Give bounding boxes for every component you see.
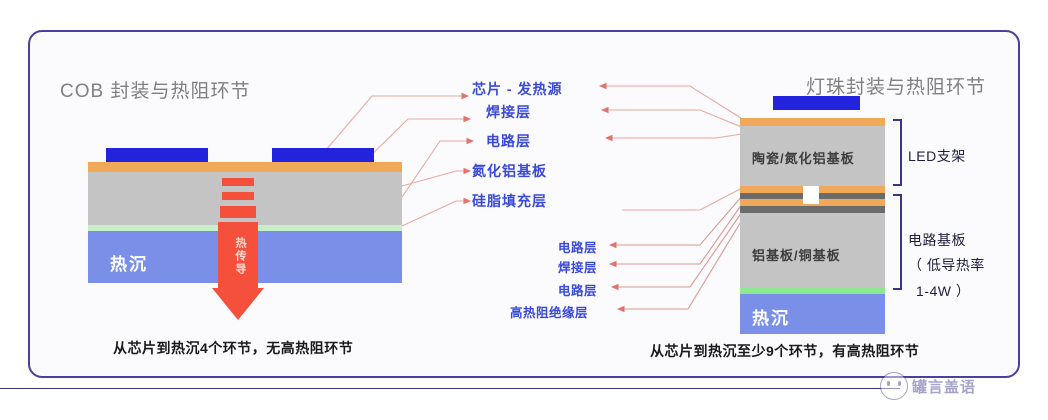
heat-dash-2 [222,192,254,200]
right-panel-title: 灯珠封装与热阻环节 [806,72,986,99]
watermark-divider [0,388,900,389]
right-heat-sink-label: 热沉 [752,304,790,329]
bracket-label-wattage: 1-4W ） [916,281,970,301]
right-side-label-3: 高热阻绝缘层 [510,302,588,321]
right-side-label-0: 电路层 [558,237,597,256]
center-label-3: 氮化铝基板 [472,161,547,181]
heat-dash-1 [222,178,254,186]
center-label-4: 硅脂填充层 [472,191,547,211]
bracket-label-circuit-board: 电路基板 [908,230,966,250]
left-panel-title: COB 封装与热阻环节 [60,76,250,103]
bracket-label-led-support: LED支架 [908,146,966,166]
heat-conduction-label: 热传导 [232,237,248,276]
right-side-label-1: 焊接层 [558,257,597,276]
right-side-label-2: 电路层 [558,280,597,299]
right-ceramic-label: 陶瓷/氮化铝基板 [752,148,855,167]
heat-dash-3 [220,206,256,218]
left-heat-sink-label: 热沉 [110,250,148,275]
bracket-label-conductivity: （ 低导热率 [908,255,985,275]
left-caption: 从芯片到热沉4个环节，无高热阻环节 [113,338,353,358]
center-label-0: 芯片 - 发热源 [472,79,562,99]
heat-arrow-head [212,288,264,320]
watermark-text: 罐言盖语 [912,376,976,397]
bracket-circuit-board [893,194,902,290]
center-label-1: 焊接层 [486,102,531,122]
left-solder-layer [88,162,402,172]
watermark: 罐言盖语 [880,372,976,400]
watermark-face-icon [880,372,908,400]
right-metal-base-label: 铝基板/铜基板 [752,245,841,264]
left-chip-2 [272,148,374,162]
right-caption: 从芯片到热沉至少9个环节，有高热阻环节 [650,341,919,361]
right-insulation-layer [740,206,885,213]
bracket-led-support [893,119,902,186]
right-chip [773,96,860,110]
right-via-gap [803,186,819,204]
left-chip-1 [106,148,208,162]
right-top-solder [740,118,885,126]
center-label-2: 电路层 [486,131,531,151]
diagram-canvas: COB 封装与热阻环节 灯珠封装与热阻环节 热沉 热传导 从芯片到热沉4个环节，… [0,0,1048,420]
